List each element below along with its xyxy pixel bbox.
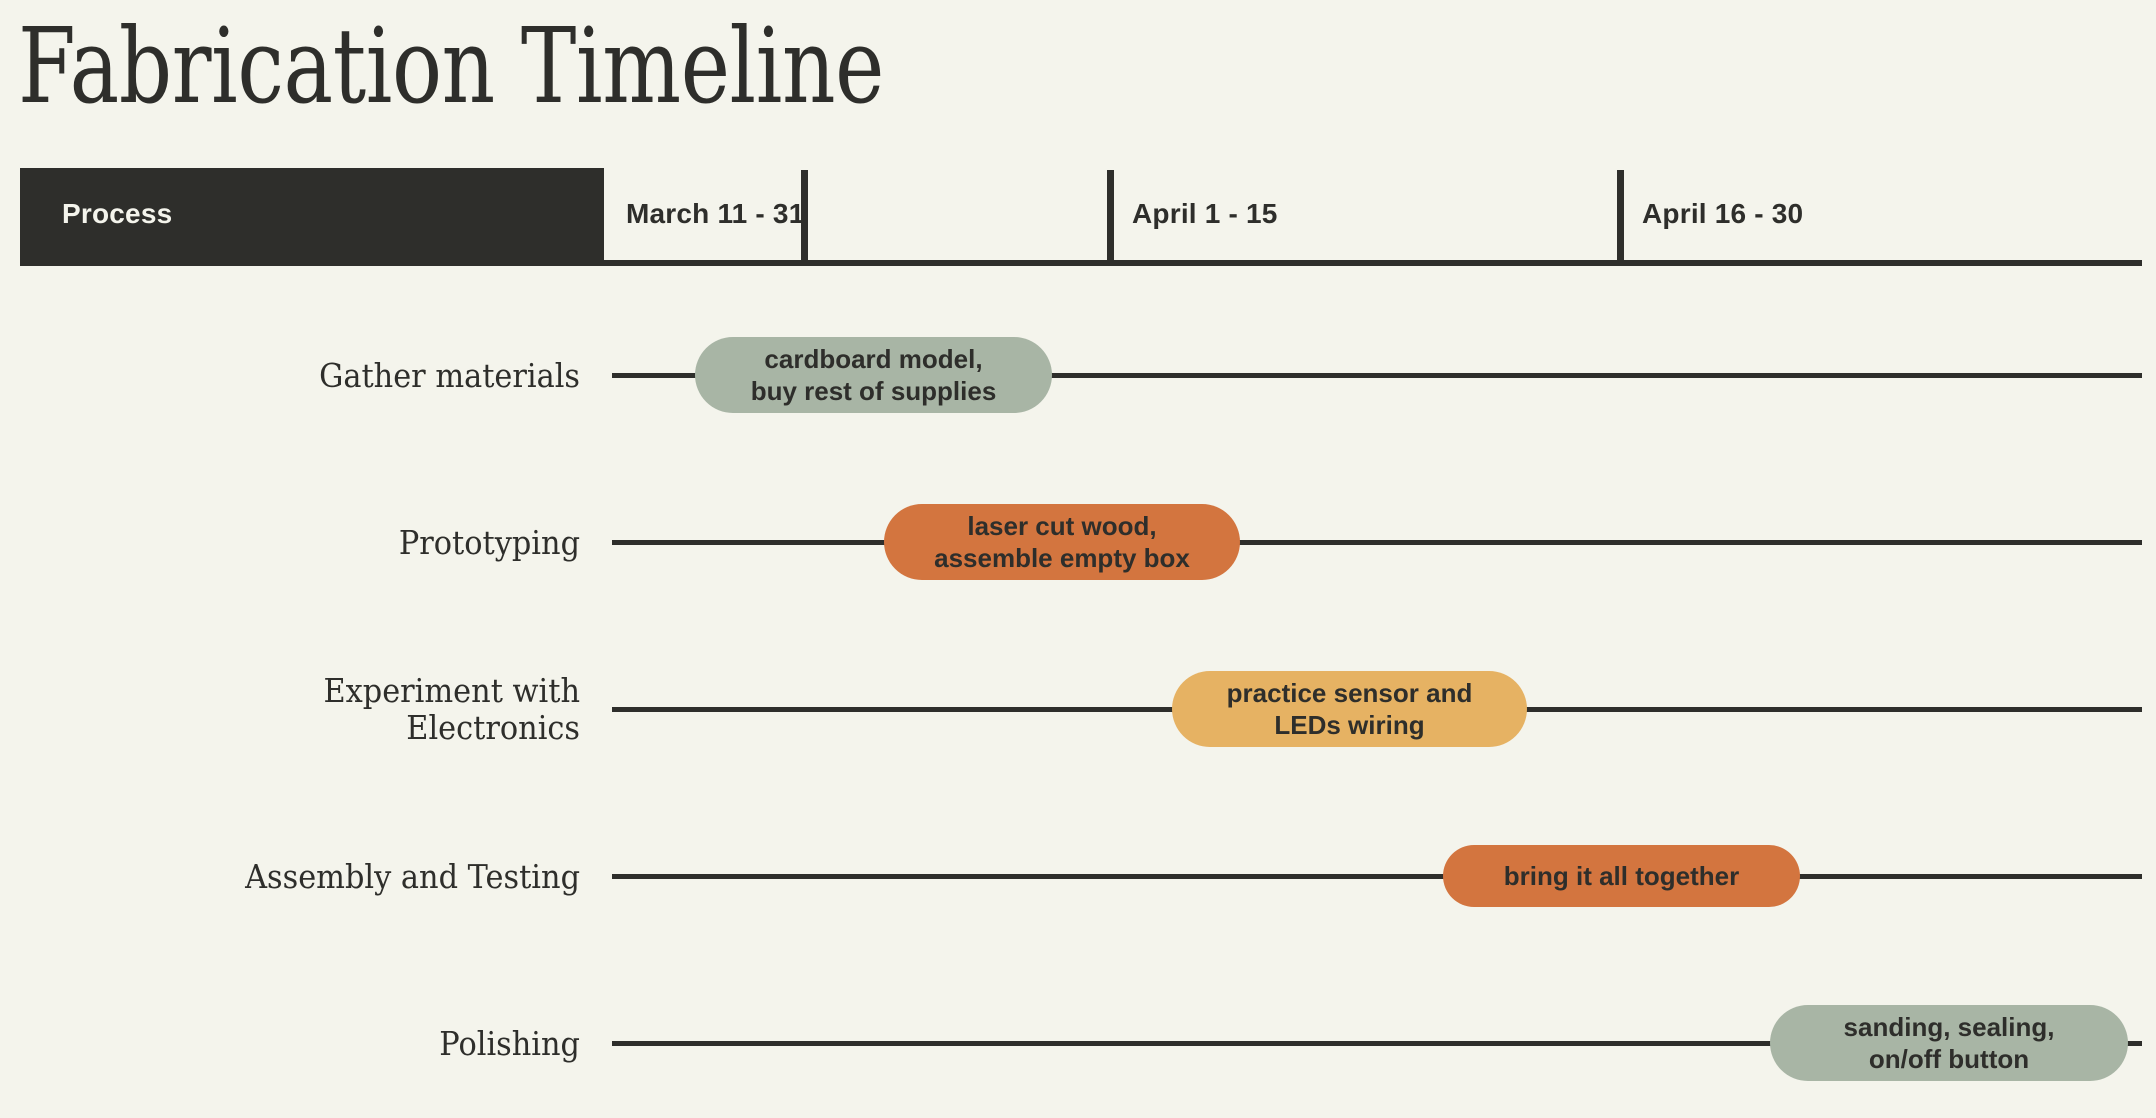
- milestone-pill-label-line: sanding, sealing,: [1844, 1011, 2055, 1043]
- row-label: Prototyping: [46, 524, 580, 561]
- timeline-header: Process March 11 - 31 April 1 - 15 April…: [0, 168, 2156, 266]
- milestone-pill-label-line: assemble empty box: [934, 542, 1190, 574]
- milestone-pill-label-line: laser cut wood,: [934, 510, 1190, 542]
- column-divider-2: [1107, 170, 1114, 260]
- row-label-line: Gather materials: [46, 357, 580, 394]
- column-divider-3: [1617, 170, 1624, 260]
- milestone-pill[interactable]: bring it all together: [1443, 845, 1800, 907]
- row-label: Polishing: [46, 1025, 580, 1062]
- row-label-line: Prototyping: [46, 524, 580, 561]
- milestone-pill[interactable]: laser cut wood,assemble empty box: [884, 504, 1240, 580]
- milestone-pill-label-line: cardboard model,: [751, 343, 997, 375]
- row-label: Assembly and Testing: [46, 858, 580, 895]
- milestone-pill-label-line: buy rest of supplies: [751, 375, 997, 407]
- milestone-pill[interactable]: cardboard model,buy rest of supplies: [695, 337, 1052, 413]
- milestone-pill-label: laser cut wood,assemble empty box: [934, 510, 1190, 574]
- timeline-row: Polishingsanding, sealing,on/off button: [0, 968, 2156, 1118]
- column-header-april-1-15: April 1 - 15: [1132, 198, 1278, 230]
- milestone-pill-label: cardboard model,buy rest of supplies: [751, 343, 997, 407]
- milestone-pill-label: sanding, sealing,on/off button: [1844, 1011, 2055, 1075]
- milestone-pill[interactable]: practice sensor andLEDs wiring: [1172, 671, 1527, 747]
- milestone-pill-label-line: LEDs wiring: [1227, 709, 1473, 741]
- timeline-row: Assembly and Testingbring it all togethe…: [0, 801, 2156, 951]
- milestone-pill[interactable]: sanding, sealing,on/off button: [1770, 1005, 2128, 1081]
- row-label: Experiment withElectronics: [46, 672, 580, 746]
- row-baseline: [612, 540, 2142, 545]
- column-header-april-16-30: April 16 - 30: [1642, 198, 1803, 230]
- row-label-line: Polishing: [46, 1025, 580, 1062]
- row-label-line: Assembly and Testing: [46, 858, 580, 895]
- row-label-line: Electronics: [46, 709, 580, 746]
- header-bottom-rule: [20, 260, 2142, 266]
- column-header-march-11-31: March 11 - 31: [626, 198, 804, 230]
- milestone-pill-label-line: on/off button: [1844, 1043, 2055, 1075]
- milestone-pill-label: practice sensor andLEDs wiring: [1227, 677, 1473, 741]
- row-baseline: [612, 874, 2142, 879]
- row-label: Gather materials: [46, 357, 580, 394]
- process-column-header: Process: [20, 168, 604, 260]
- row-label-line: Experiment with: [46, 672, 580, 709]
- process-column-label: Process: [62, 198, 172, 230]
- milestone-pill-label-line: practice sensor and: [1227, 677, 1473, 709]
- timeline-row: Experiment withElectronicspractice senso…: [0, 634, 2156, 784]
- page-title: Fabrication Timeline: [18, 0, 884, 136]
- milestone-pill-label: bring it all together: [1504, 860, 1739, 892]
- timeline-row: Prototypinglaser cut wood,assemble empty…: [0, 467, 2156, 617]
- timeline-row: Gather materialscardboard model,buy rest…: [0, 300, 2156, 450]
